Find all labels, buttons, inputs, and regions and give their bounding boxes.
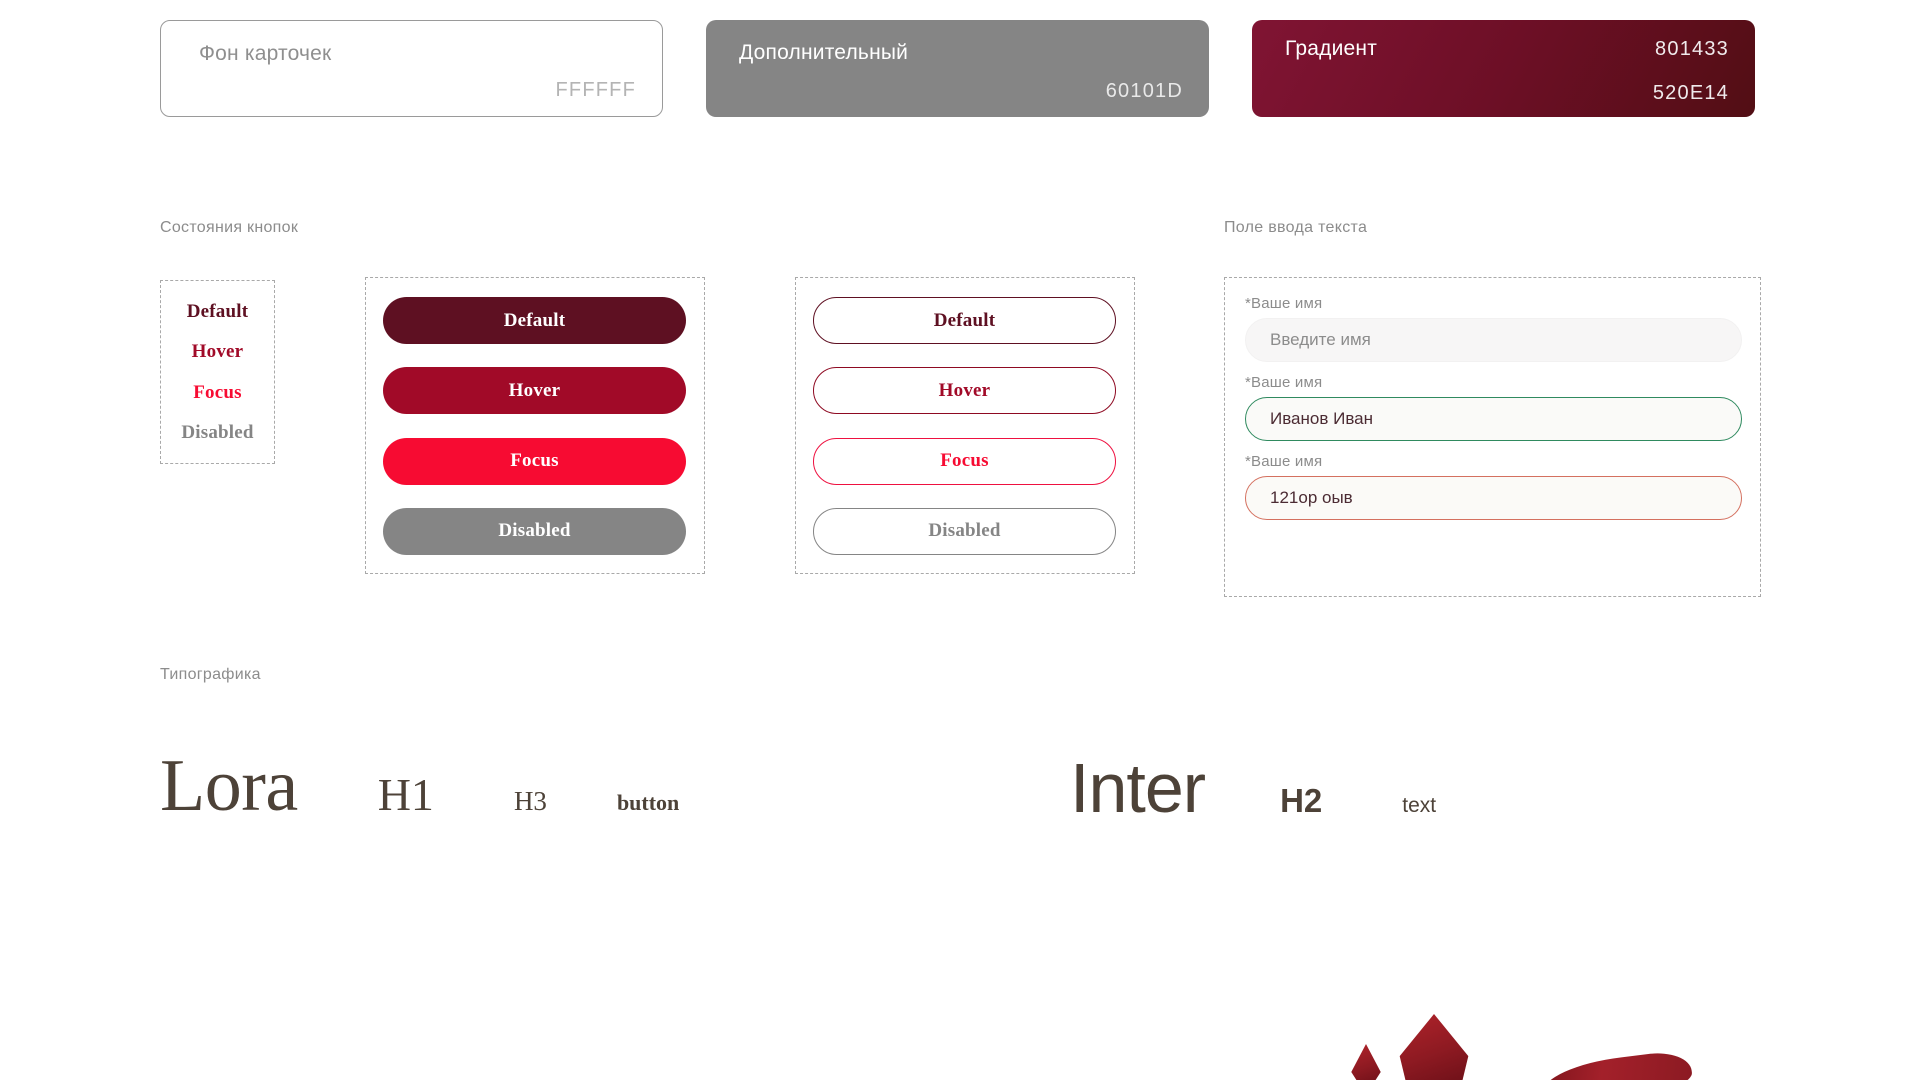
field-label: *Ваше имя <box>1245 374 1742 391</box>
swatch-hex-value: 60101D <box>739 81 1183 101</box>
swatch-title: Градиент <box>1285 38 1377 59</box>
typography-section-label: Типографика <box>160 666 261 684</box>
filled-button-default[interactable]: Default <box>383 297 686 344</box>
serif-family-name: Lora <box>160 753 298 820</box>
serif-sample-h3: H3 <box>514 789 547 813</box>
typography-sans-group: Inter H2 text <box>1070 757 1436 820</box>
filled-button-hover[interactable]: Hover <box>383 367 686 414</box>
name-input-valid[interactable] <box>1245 397 1742 441</box>
leaf-icon-wide <box>1540 1049 1694 1080</box>
filled-button-stack: Default Hover Focus Disabled <box>383 297 686 555</box>
design-system-board: Фон карточек FFFFFF Дополнительный 60101… <box>0 0 1920 1080</box>
outlined-button-default[interactable]: Default <box>813 297 1116 344</box>
filled-button-disabled[interactable]: Disabled <box>383 508 686 555</box>
leaf-icon-small <box>1350 1044 1382 1080</box>
name-input-empty[interactable] <box>1245 318 1742 362</box>
field-label: *Ваше имя <box>1245 295 1742 312</box>
color-swatch-row: Фон карточек FFFFFF Дополнительный 60101… <box>160 20 1755 117</box>
sans-sample-h2: H2 <box>1280 786 1322 816</box>
serif-sample-h1: H1 <box>378 774 434 815</box>
outlined-button-disabled[interactable]: Disabled <box>813 508 1116 555</box>
buttons-section-label: Состояния кнопок <box>160 219 298 237</box>
swatch-card-background[interactable]: Фон карточек FFFFFF <box>160 20 663 117</box>
outlined-button-focus[interactable]: Focus <box>813 438 1116 485</box>
filled-button-focus[interactable]: Focus <box>383 438 686 485</box>
field-group-error: *Ваше имя <box>1245 453 1742 520</box>
typography-row: Lora H1 H3 button Inter H2 text <box>160 710 1820 820</box>
swatch-title: Дополнительный <box>739 42 1183 63</box>
autumn-leaves-decoration <box>1320 1000 1760 1080</box>
gradient-top-line: Градиент 801433 <box>1285 38 1729 59</box>
swatch-hex-to: 520E14 <box>1639 83 1729 103</box>
swatch-gradient[interactable]: Градиент 801433 520E14 <box>1252 20 1755 117</box>
gradient-bottom-line: 520E14 <box>1285 83 1729 103</box>
sans-family-name: Inter <box>1070 757 1205 820</box>
text-input-stack: *Ваше имя *Ваше имя *Ваше имя <box>1245 295 1742 520</box>
swatch-hex-from: 801433 <box>1639 39 1729 59</box>
name-input-error[interactable] <box>1245 476 1742 520</box>
serif-sample-button: button <box>617 793 679 813</box>
sans-sample-text: text <box>1402 797 1436 816</box>
swatch-secondary[interactable]: Дополнительный 60101D <box>706 20 1209 117</box>
outlined-button-stack: Default Hover Focus Disabled <box>813 297 1116 555</box>
swatch-gradient-rows: Градиент 801433 520E14 <box>1285 38 1729 103</box>
swatch-hex-value: FFFFFF <box>199 80 636 100</box>
field-label: *Ваше имя <box>1245 453 1742 470</box>
field-group-valid: *Ваше имя <box>1245 374 1742 441</box>
outlined-button-hover[interactable]: Hover <box>813 367 1116 414</box>
text-button-stack: Default Hover Focus Disabled <box>160 280 275 464</box>
swatch-title: Фон карточек <box>199 43 636 64</box>
text-button-default[interactable]: Default <box>187 302 249 321</box>
inputs-section-label: Поле ввода текста <box>1224 219 1367 237</box>
text-button-disabled[interactable]: Disabled <box>181 423 253 442</box>
text-button-focus[interactable]: Focus <box>193 383 242 402</box>
typography-serif-group: Lora H1 H3 button <box>160 753 679 820</box>
text-button-hover[interactable]: Hover <box>192 342 244 361</box>
field-group-empty: *Ваше имя <box>1245 295 1742 362</box>
leaf-icon-large <box>1395 1014 1473 1080</box>
